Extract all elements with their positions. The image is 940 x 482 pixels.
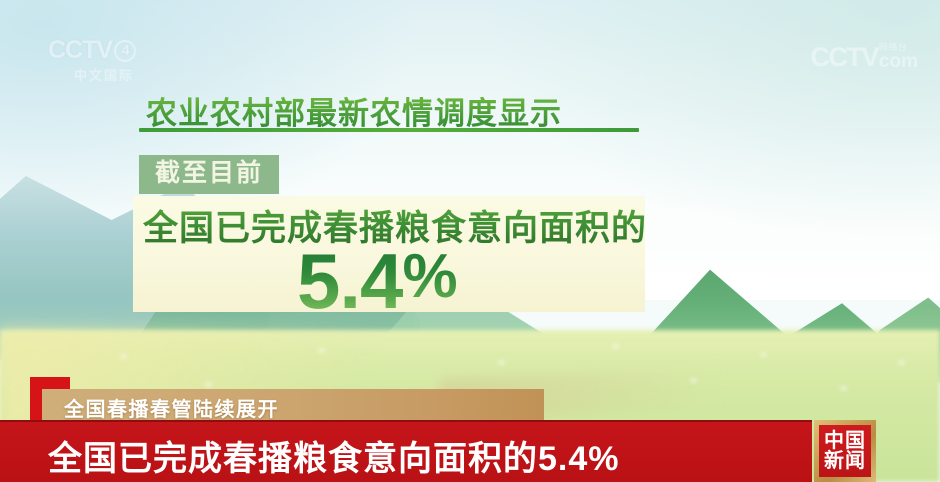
infographic-value-unit: % [402,242,456,311]
program-badge-inner: 中国 新闻 [819,425,871,477]
program-badge-line2: 新闻 [824,451,866,471]
broadcast-frame: CCTV 4 中文国际 CCTV 网络台 com 农业农村部最新农情调度显示 截… [0,0,940,482]
lower-third-headline-text: 全国已完成春播粮食意向面积的5.4% [48,431,620,480]
infographic-value-number: 5.4 [297,242,402,320]
infographic-kicker: 农业农村部最新农情调度显示 [146,88,562,133]
infographic-tag: 截至目前 [139,155,279,194]
program-badge: 中国 新闻 [814,420,876,482]
infographic-value: 5.4 % [297,242,457,320]
program-badge-line1: 中国 [824,431,866,451]
infographic-kicker-underline [139,128,639,132]
lower-third-topic-text: 全国春播春管陆续展开 [64,393,279,422]
